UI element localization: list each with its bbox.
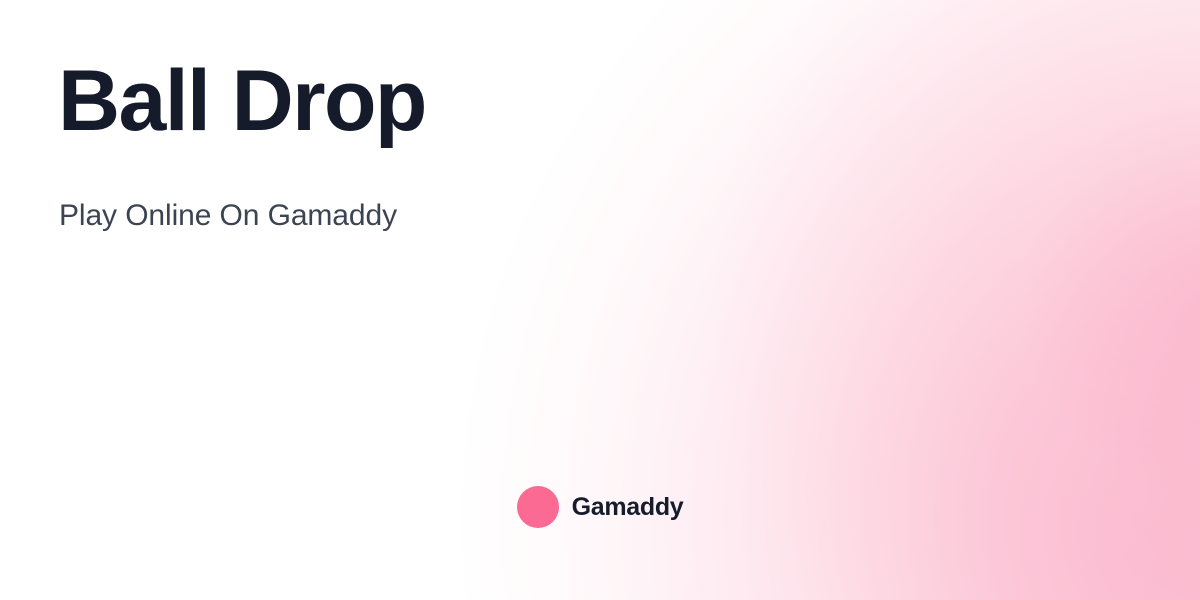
brand-name: Gamaddy xyxy=(572,493,684,522)
brand-lockup: Gamaddy xyxy=(0,486,1200,528)
share-card: Ball Drop Play Online On Gamaddy Gamaddy xyxy=(0,0,1200,600)
page-title: Ball Drop xyxy=(58,58,426,144)
circle-logo-mark-icon xyxy=(517,486,559,528)
card-content: Ball Drop Play Online On Gamaddy Gamaddy xyxy=(0,0,1200,600)
page-subtitle: Play Online On Gamaddy xyxy=(59,198,397,234)
